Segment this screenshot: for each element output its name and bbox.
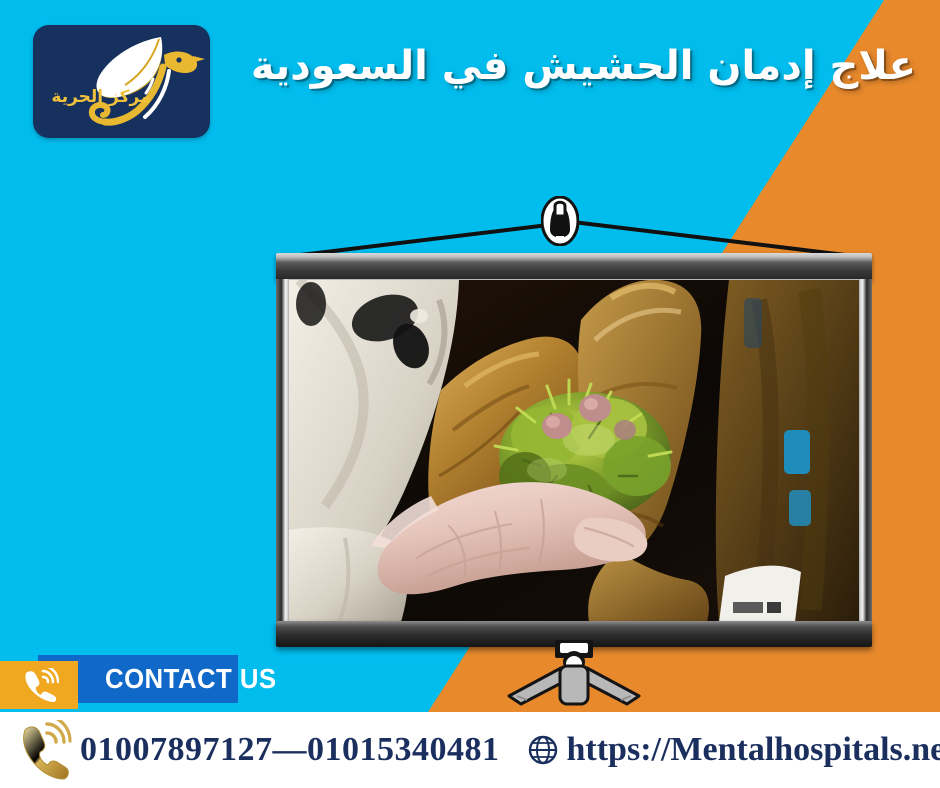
- screen-right-edge: [860, 279, 872, 623]
- logo[interactable]: مركز الحرية: [33, 25, 210, 138]
- screen-photo: [288, 279, 860, 623]
- contact-us-label: CONTACT US: [105, 663, 277, 695]
- phone-ring-icon: [16, 720, 72, 780]
- phone-ring-icon: [19, 668, 59, 702]
- screen-top-bar: [276, 253, 872, 281]
- footer-phone-numbers[interactable]: 01007897127—01015340481: [80, 731, 500, 769]
- tripod-stand-icon: [505, 640, 643, 708]
- contact-phone-icon-box[interactable]: [0, 661, 78, 709]
- poster-canvas: مركز الحرية علاج إدمان الحشيش في السعودي…: [0, 0, 940, 788]
- page-title: علاج إدمان الحشيش في السعودية: [236, 42, 916, 91]
- footer-website-url[interactable]: https://Mentalhospitals.net: [567, 731, 940, 769]
- globe-icon: [528, 735, 558, 765]
- projector-screen: [276, 253, 872, 647]
- footer-bar: 01007897127—01015340481 https://Mentalho…: [0, 712, 940, 788]
- logo-text: مركز الحرية: [45, 87, 157, 107]
- bird-feather-icon: [33, 25, 210, 138]
- screen-left-edge: [276, 279, 288, 623]
- ceiling-hook-icon: [541, 196, 579, 246]
